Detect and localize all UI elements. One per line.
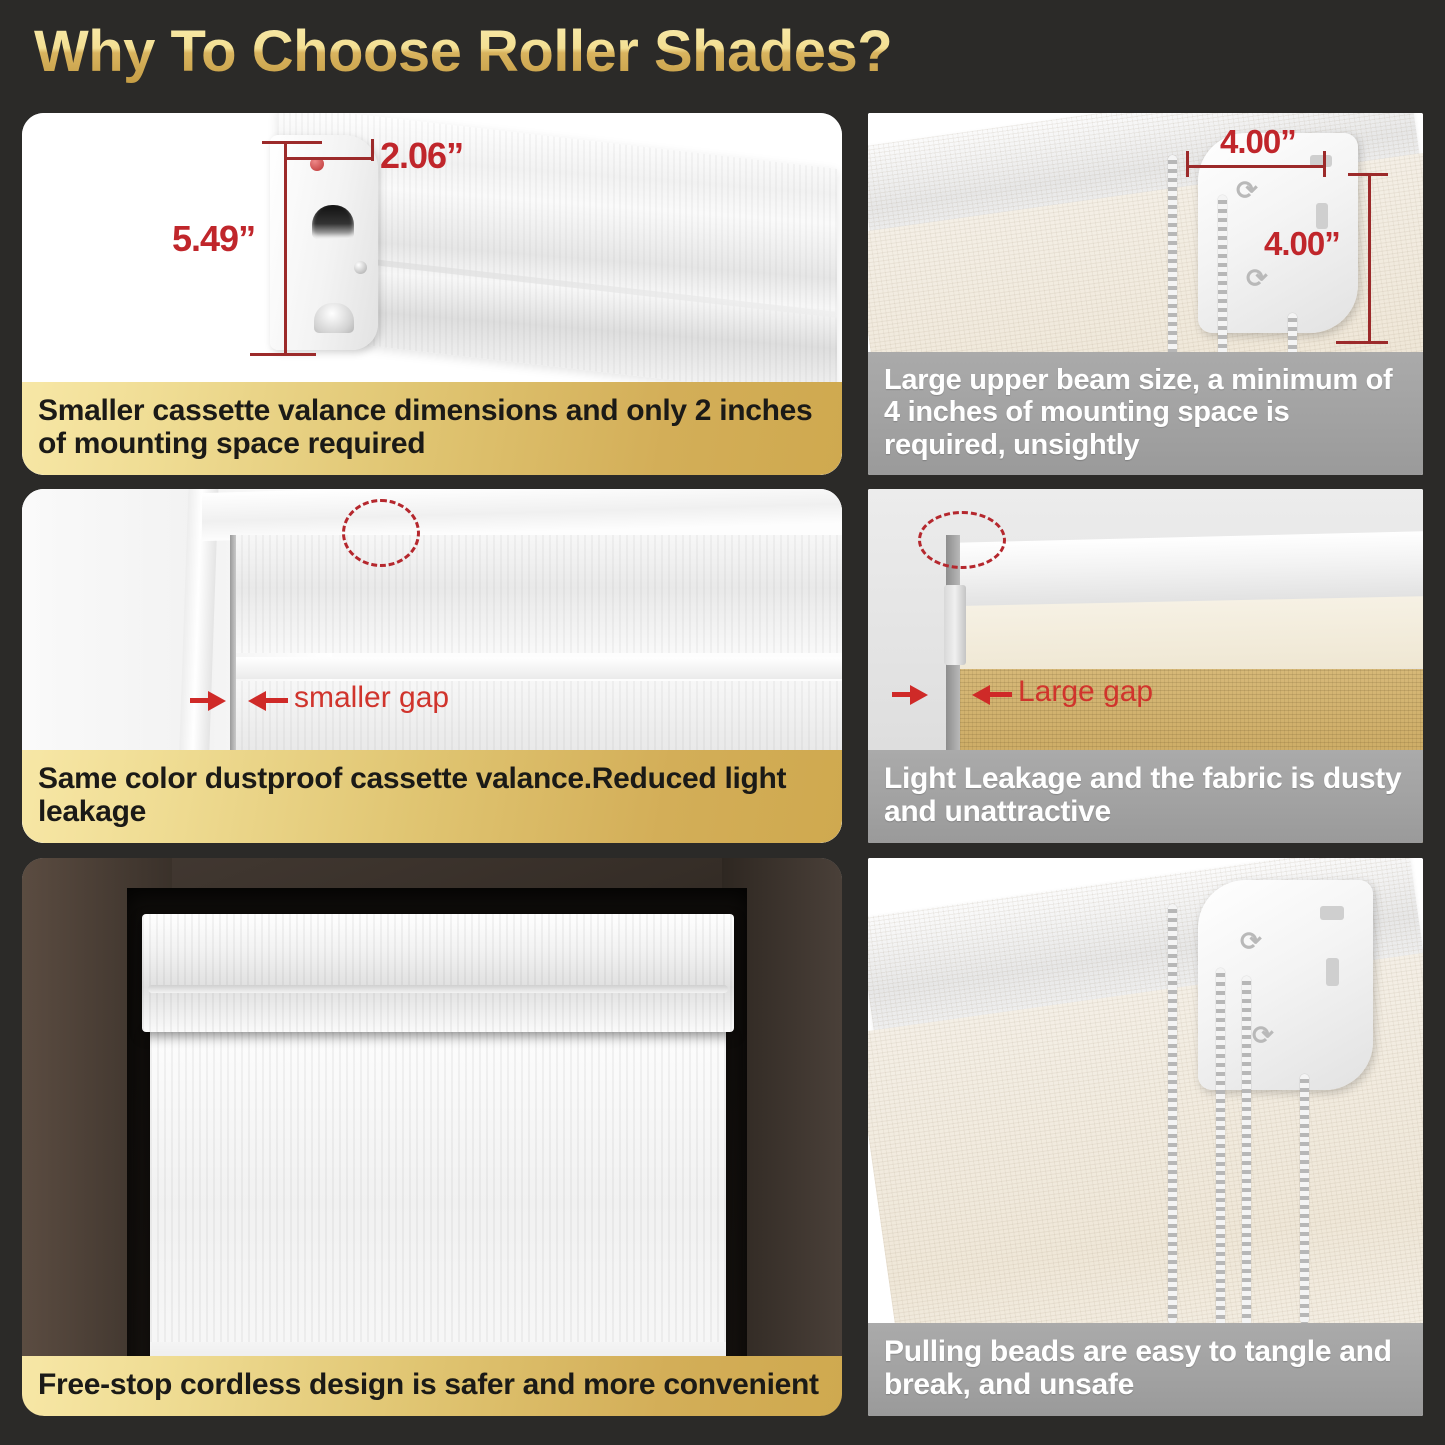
comparison-grid: 2.06” 5.49” Smaller cassette valance dim…: [0, 0, 1445, 1445]
beam-width-label: 4.00”: [1220, 123, 1296, 161]
gap-arrow-left-bar: [892, 692, 912, 697]
height-dimension-label: 5.49”: [172, 218, 255, 260]
beam-height-tick-bottom: [1336, 341, 1388, 344]
beam-height-bar: [1368, 173, 1371, 343]
gap-callout-label: Large gap: [1018, 675, 1153, 709]
cream-fabric-band: [958, 596, 1423, 678]
gap-arrow-right: [248, 691, 266, 711]
gap-callout-label: smaller gap: [294, 681, 449, 715]
bead-chain-2: [1216, 968, 1225, 1328]
gap-arrow-left: [910, 685, 928, 705]
height-dim-bar: [284, 141, 287, 356]
width-dimension-label: 2.06”: [380, 135, 463, 177]
gap-arrow-right-bar: [990, 692, 1012, 697]
panel-pro-cassette-size: 2.06” 5.49” Smaller cassette valance dim…: [22, 113, 842, 475]
height-dim-tick-top: [262, 141, 322, 144]
shade-band-upper: [234, 535, 842, 653]
endcap-knob: [314, 303, 354, 333]
caption-con-pulling-beads: Pulling beads are easy to tangle and bre…: [868, 1323, 1423, 1416]
gap-highlight-circle: [342, 499, 420, 567]
bead-chain-3: [1242, 976, 1251, 1326]
caption-pro-cordless-design: Free-stop cordless design is safer and m…: [22, 1356, 842, 1416]
beam-height-tick-top: [1348, 173, 1388, 176]
caption-pro-dustproof-valance: Same color dustproof cassette valance.Re…: [22, 750, 842, 843]
cassette-valance: [142, 914, 734, 1032]
panel-con-beam-size: ⟳ ⟳ 4.00” 4.00” Large upper beam size, a…: [868, 113, 1423, 475]
panel-con-light-leakage: Large gap Light Leakage and the fabric i…: [868, 489, 1423, 843]
shade-band-mid: [234, 657, 842, 679]
bead-chain-4: [1300, 1074, 1309, 1324]
panel-pro-cordless-design: Free-stop cordless design is safer and m…: [22, 858, 842, 1416]
gap-arrow-left: [208, 691, 226, 711]
bead-chain-1: [1168, 904, 1177, 1324]
beam-width-tick-right: [1323, 151, 1326, 177]
width-dim-bar: [284, 157, 374, 160]
gap-arrow-right-bar: [266, 698, 288, 703]
endcap-slot: [312, 205, 354, 239]
window-head-trim: [202, 489, 842, 541]
panel-pro-dustproof-valance: smaller gap Same color dustproof cassett…: [22, 489, 842, 843]
gap-arrow-right: [972, 685, 990, 705]
roller-clip: [944, 585, 966, 665]
photo-cordless-window: [22, 858, 842, 1416]
roller-shade-fabric: [150, 1028, 726, 1376]
endcap-screw-bottom: [354, 261, 367, 274]
beam-width-tick-left: [1186, 151, 1189, 177]
caption-con-light-leakage: Light Leakage and the fabric is dusty an…: [868, 750, 1423, 843]
caption-con-beam-size: Large upper beam size, a minimum of 4 in…: [868, 352, 1423, 475]
caption-pro-cassette-size: Smaller cassette valance dimensions and …: [22, 382, 842, 475]
gap-highlight-circle: [918, 511, 1006, 569]
beam-height-label: 4.00”: [1264, 225, 1340, 263]
width-dim-tick-right: [371, 139, 374, 161]
gap-arrow-left-bar: [190, 698, 210, 703]
beam-width-bar: [1186, 165, 1326, 168]
height-dim-tick-bottom: [250, 353, 316, 356]
panel-con-pulling-beads: ⟳ ⟳ Pulling beads are easy to tangle and…: [868, 858, 1423, 1416]
